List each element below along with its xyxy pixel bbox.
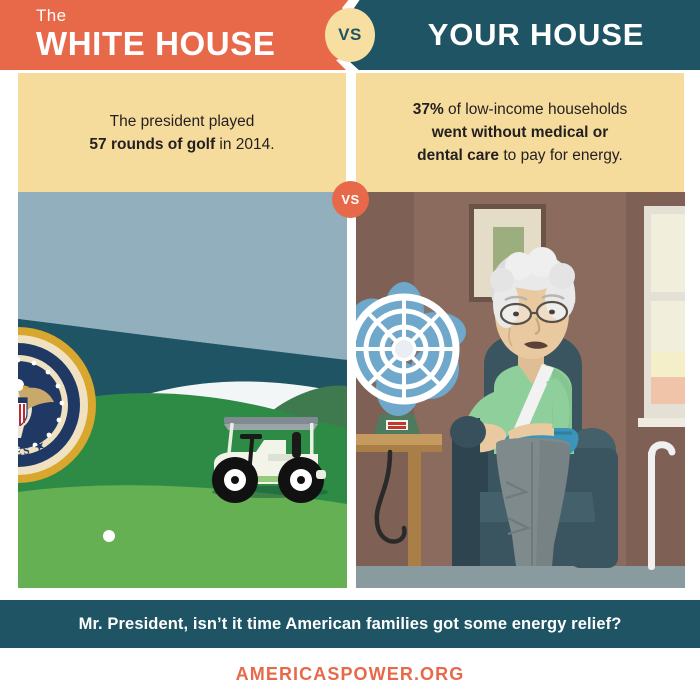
cart-steering	[240, 434, 262, 439]
header-banner: The WHITE HOUSE YOUR HOUSE VS	[0, 0, 700, 70]
stat-right-line2: went without medical or	[432, 124, 609, 141]
fan-hub	[395, 340, 413, 358]
stat-band: The president played 57 rounds of golf i…	[0, 73, 700, 192]
table-top	[356, 434, 442, 445]
footer-bar: AMERICASPOWER.ORG	[0, 648, 700, 700]
vs-badge-divider: VS	[332, 181, 369, 218]
window-rail	[644, 292, 685, 301]
stat-panel-left: The president played 57 rounds of golf i…	[18, 73, 346, 192]
cart-seatback	[292, 432, 301, 458]
window-pane-top	[651, 214, 685, 294]
stat-right-line3-tail: to pay for energy.	[499, 147, 623, 164]
header-right-title: YOUR HOUSE	[386, 17, 686, 53]
stat-right-figure: 37%	[413, 101, 444, 118]
living-room-illustration	[356, 192, 685, 588]
header-eyebrow: The	[36, 6, 336, 25]
golf-ball-icon	[103, 530, 115, 542]
header-left-title-group: The WHITE HOUSE	[0, 6, 336, 62]
golf-course-illustration: SEAL OF THE UNITED ★ STATES ★	[18, 192, 347, 588]
stat-right-text: 37% of low-income households went withou…	[401, 98, 640, 167]
stat-left-line1: The president played	[110, 113, 255, 130]
vs-badge-header: VS	[325, 8, 375, 62]
window-icon	[638, 206, 685, 427]
floor	[356, 566, 685, 588]
infographic-root: The WHITE HOUSE YOUR HOUSE VS The presid…	[0, 0, 700, 700]
golf-cart-icon	[212, 417, 328, 503]
cta-bar: Mr. President, isn’t it time American fa…	[0, 600, 700, 648]
stat-left-text: The president played 57 rounds of golf i…	[77, 110, 286, 156]
stat-left-line2-tail: in 2014.	[215, 136, 274, 153]
cart-canopy	[224, 417, 318, 424]
cta-text: Mr. President, isn’t it time American fa…	[79, 615, 622, 634]
header-left-title: WHITE HOUSE	[36, 25, 336, 62]
table-leg	[408, 452, 421, 566]
stat-left-figure: 57 rounds of golf	[89, 136, 215, 153]
stat-right-line3: dental care	[417, 147, 499, 164]
stat-panel-right: 37% of low-income households went withou…	[356, 73, 684, 192]
window-peach	[651, 377, 685, 404]
site-url[interactable]: AMERICASPOWER.ORG	[236, 664, 465, 685]
window-sill	[638, 418, 685, 427]
stat-right-line1-tail: of low-income households	[444, 101, 628, 118]
illustration-band: SEAL OF THE UNITED ★ STATES ★	[0, 192, 700, 592]
